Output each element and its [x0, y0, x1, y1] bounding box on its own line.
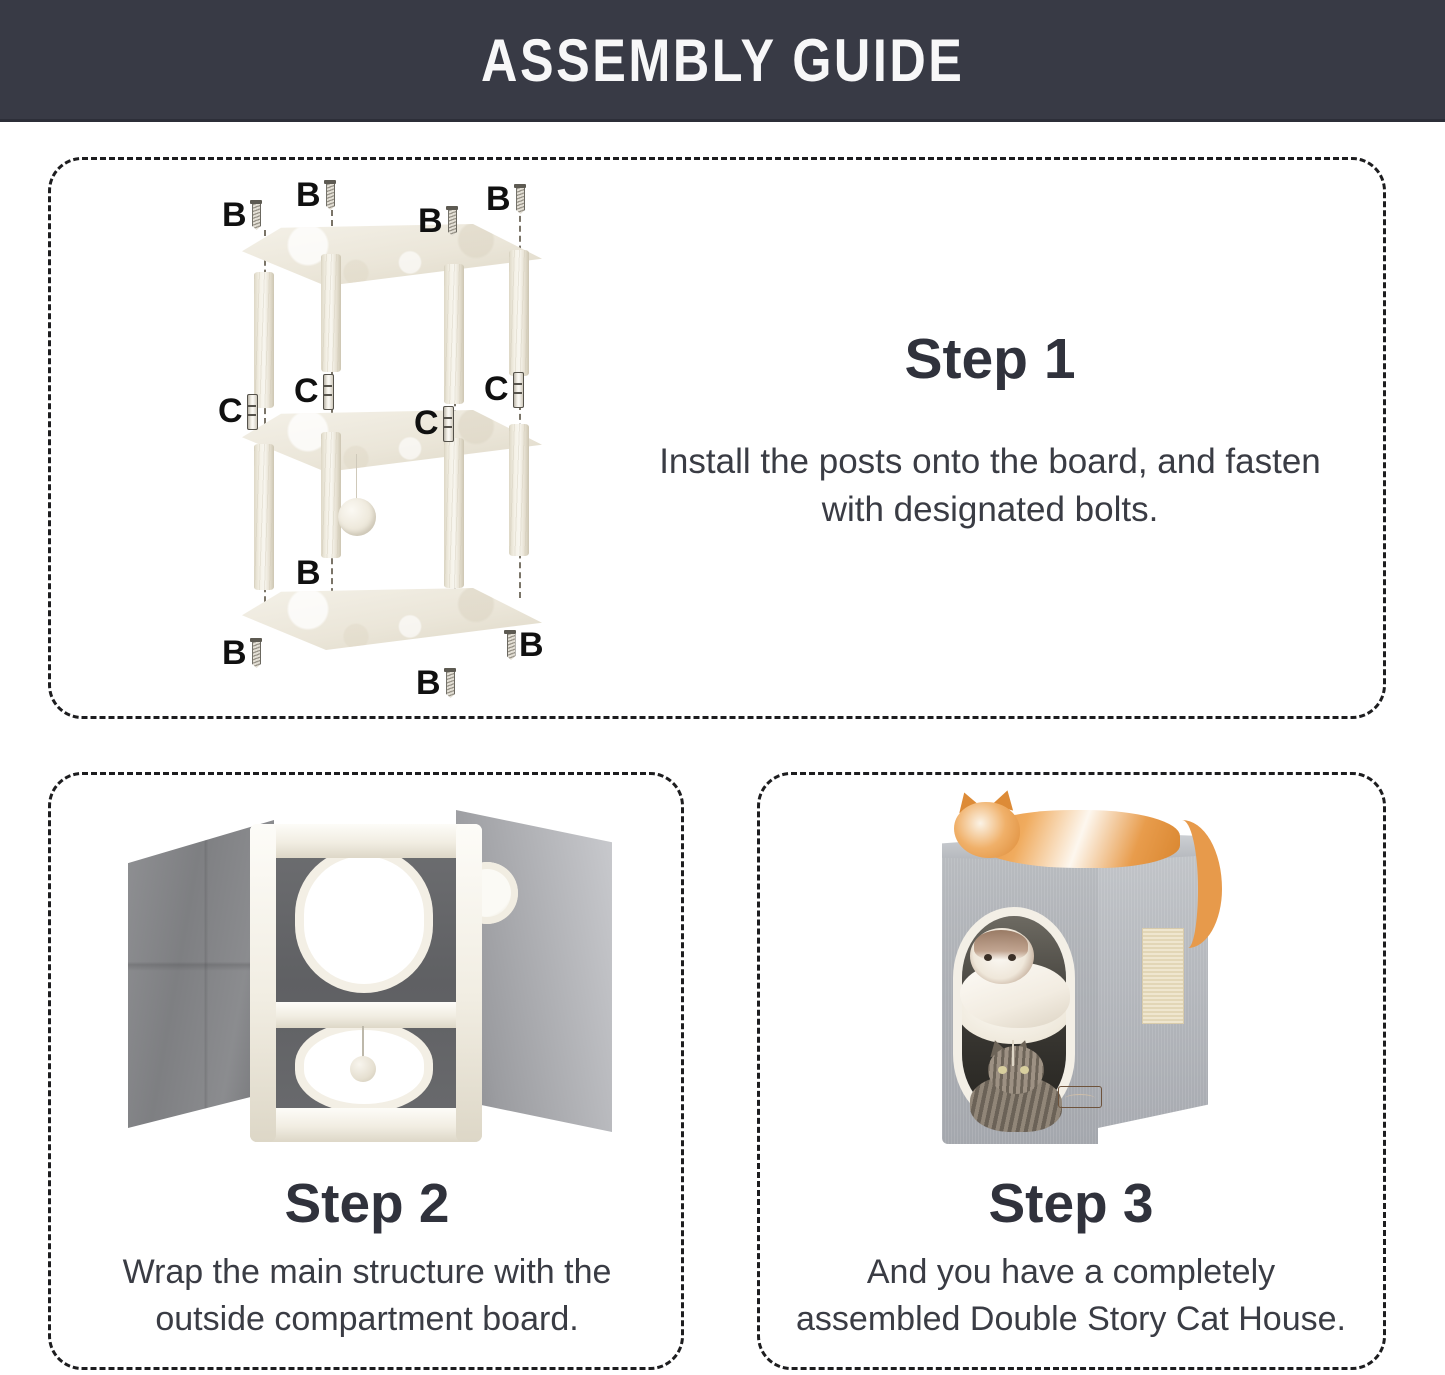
step-1-heading: Step 1 — [640, 330, 1340, 390]
cat-eye — [984, 954, 992, 961]
dowel-icon — [246, 394, 257, 428]
screw-icon — [504, 630, 516, 660]
step-2-heading: Step 2 — [78, 1175, 656, 1233]
part-label-bolt-text: B — [296, 178, 321, 212]
pompom-ball — [338, 498, 376, 536]
part-label-bolt-text: B — [222, 198, 247, 232]
part-label-connector-text: C — [484, 372, 509, 406]
step-2-illustration — [118, 800, 618, 1172]
frame-rail-middle — [254, 1002, 478, 1028]
post-upper-3 — [444, 264, 464, 404]
board-texture — [242, 588, 542, 650]
part-label-connector-text: C — [218, 394, 243, 428]
screw-icon — [514, 184, 526, 214]
dowel-icon — [442, 406, 453, 440]
step-3-text-block: Step 3 And you have a completely assembl… — [780, 1175, 1362, 1343]
frame-rail-bottom — [250, 1108, 482, 1142]
step-2-body: Wrap the main structure with the outside… — [78, 1249, 656, 1343]
screw-icon — [446, 206, 458, 236]
step-1-body: Install the posts onto the board, and fa… — [640, 438, 1340, 535]
post-upper-2 — [321, 254, 341, 372]
part-label-bolt-text: B — [416, 666, 441, 700]
cat-face-mask — [974, 930, 1028, 960]
page-title: ASSEMBLY GUIDE — [481, 31, 964, 91]
part-label-bolt: B — [416, 666, 456, 700]
exploded-assembly-diagram: B B B B B B B B C — [196, 186, 596, 696]
part-label-connector: C — [218, 394, 257, 428]
post-lower-4 — [509, 424, 529, 556]
cat-head — [954, 802, 1020, 858]
screw-icon — [250, 200, 262, 230]
header-bar: ASSEMBLY GUIDE — [0, 0, 1445, 122]
part-label-bolt: B — [418, 204, 458, 238]
part-label-connector: C — [294, 374, 333, 408]
part-label-bolt-text: B — [296, 556, 321, 590]
step-1-text-block: Step 1 Install the posts onto the board,… — [640, 330, 1340, 534]
part-label-bolt: B — [504, 628, 544, 662]
step-3-heading: Step 3 — [780, 1175, 1362, 1233]
part-label-connector: C — [414, 406, 453, 440]
dowel-icon — [322, 374, 333, 408]
cat-eye — [998, 1066, 1007, 1074]
cat-eye — [1008, 954, 1016, 961]
cat-ginger — [944, 792, 1234, 876]
cat-head — [988, 1046, 1044, 1094]
step-3-body: And you have a completely assembled Doub… — [780, 1249, 1362, 1343]
step-2-text-block: Step 2 Wrap the main structure with the … — [78, 1175, 656, 1343]
screw-icon — [250, 638, 262, 668]
part-label-bolt-text: B — [486, 182, 511, 216]
post-upper-4 — [509, 250, 529, 376]
upper-opening — [304, 856, 424, 984]
part-label-bolt-text: B — [519, 628, 544, 662]
brand-tag — [1058, 1086, 1102, 1108]
step-3-illustration — [900, 788, 1292, 1174]
part-label-bolt: B — [486, 182, 526, 216]
part-label-connector-text: C — [414, 406, 439, 440]
post-lower-2 — [321, 432, 341, 558]
pompom-ball — [350, 1056, 376, 1082]
toy-string — [362, 1026, 364, 1060]
cat-ragdoll — [956, 928, 1074, 1032]
cat-house-frame — [258, 834, 474, 1134]
part-label-connector: C — [484, 372, 523, 406]
frame-post-left — [250, 824, 276, 1142]
part-label-connector-text: C — [294, 374, 319, 408]
post-lower-3 — [444, 438, 464, 588]
dowel-icon — [512, 372, 523, 406]
board-texture — [242, 224, 542, 286]
screw-icon — [444, 668, 456, 698]
part-label-bolt: B — [222, 636, 262, 670]
frame-post-right — [456, 824, 482, 1142]
screw-icon — [324, 180, 336, 210]
middle-board — [242, 410, 542, 472]
board-texture — [242, 410, 542, 472]
cat-tabby — [970, 1046, 1066, 1132]
part-label-bolt-text: B — [418, 204, 443, 238]
part-label-bolt: B — [296, 556, 321, 590]
assembly-guide-page: ASSEMBLY GUIDE — [0, 0, 1445, 1375]
post-lower-1 — [254, 444, 274, 590]
post-upper-1 — [254, 272, 274, 408]
part-label-bolt: B — [296, 178, 336, 212]
toy-string — [1012, 1040, 1014, 1066]
part-label-bolt: B — [222, 198, 262, 232]
cat-eye — [1020, 1066, 1029, 1074]
bottom-board — [242, 588, 542, 650]
top-board — [242, 224, 542, 286]
part-label-bolt-text: B — [222, 636, 247, 670]
frame-rail-top — [250, 824, 482, 858]
